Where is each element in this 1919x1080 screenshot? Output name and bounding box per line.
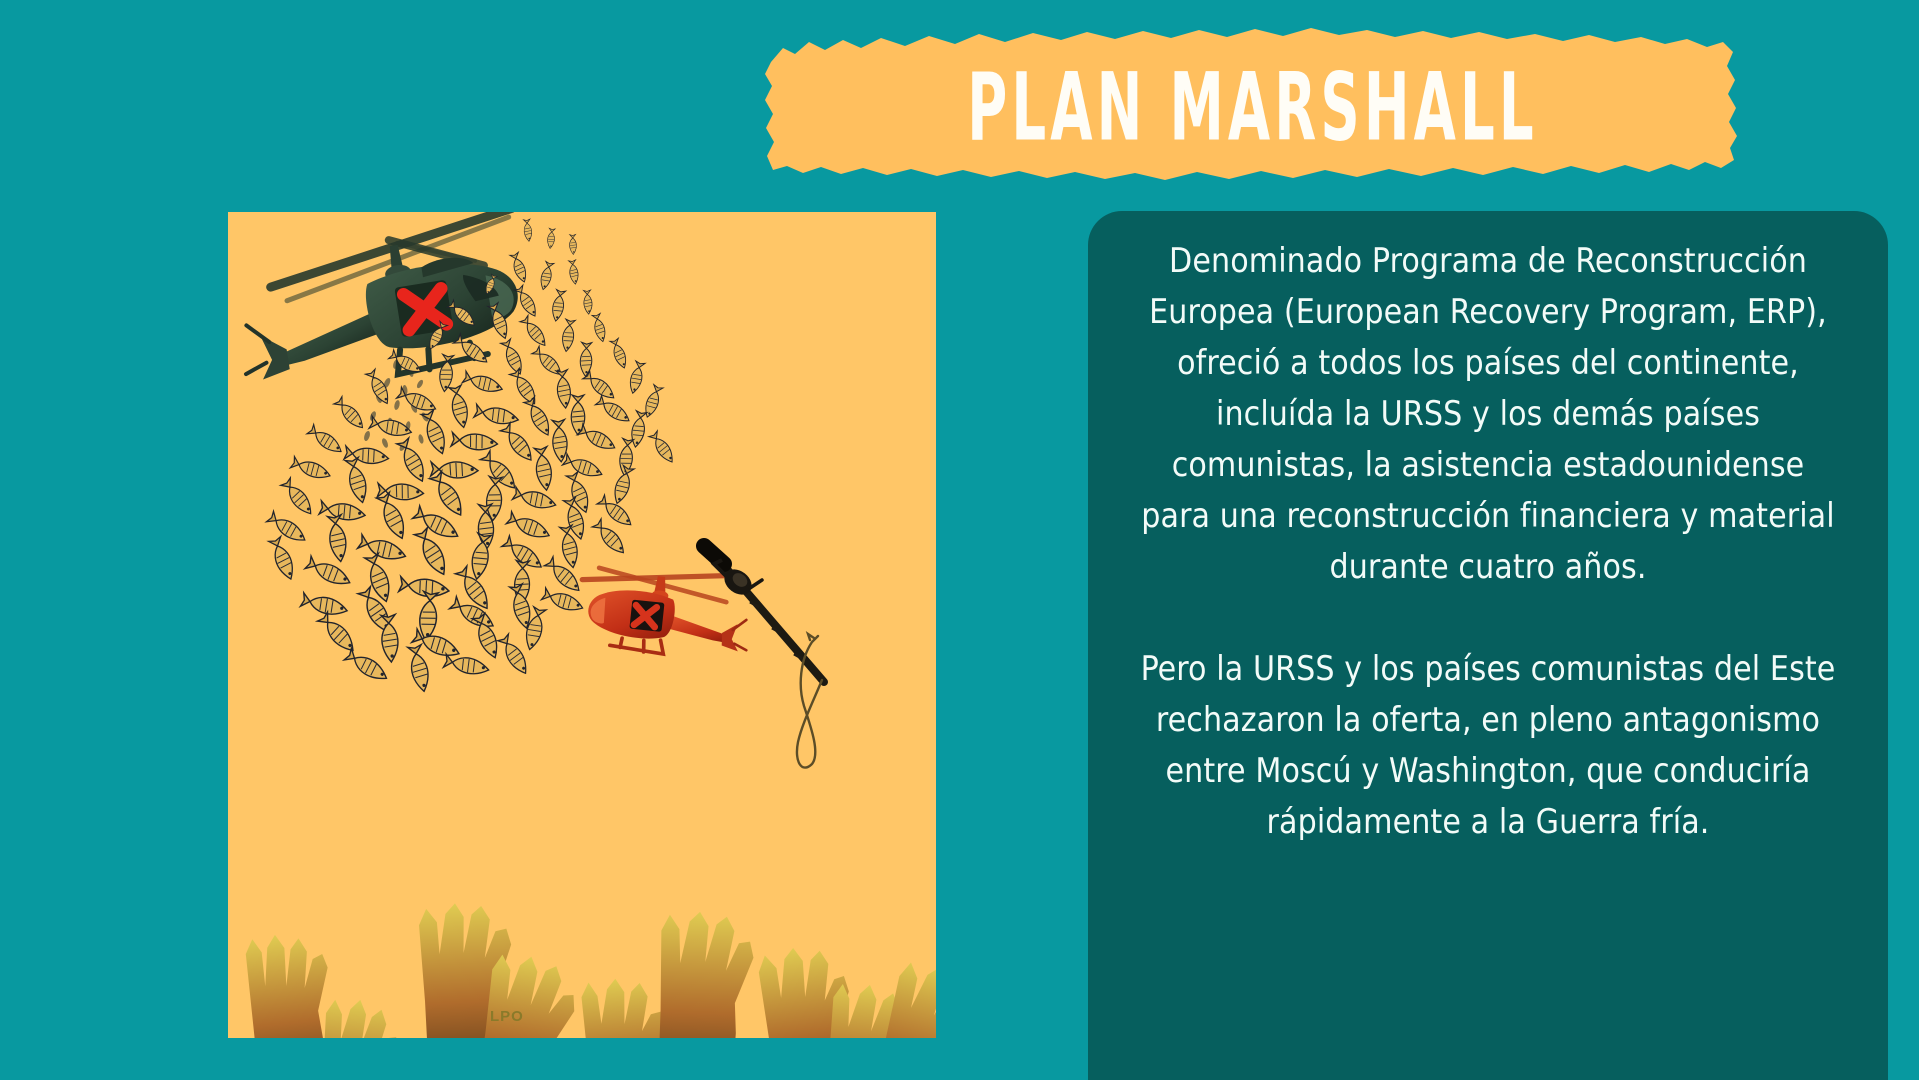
- fishing-rod: [704, 546, 824, 768]
- title-banner: PLAN MARSHALL: [765, 28, 1740, 180]
- illustration-artwork: [228, 212, 936, 1038]
- description-paragraph-1: Denominado Programa de Reconstrucción Eu…: [1134, 235, 1842, 592]
- page-title: PLAN MARSHALL: [853, 8, 1653, 200]
- description-paragraph-2: Pero la URSS y los países comunistas del…: [1134, 643, 1842, 847]
- slide-root: PLAN MARSHALL: [0, 0, 1919, 1080]
- artwork-signature: LPO: [490, 1008, 524, 1025]
- description-panel: Denominado Programa de Reconstrucción Eu…: [1088, 211, 1888, 1080]
- military-helicopter: [228, 212, 534, 398]
- raised-hands: [242, 901, 936, 1038]
- illustration-panel: LPO: [228, 212, 936, 1038]
